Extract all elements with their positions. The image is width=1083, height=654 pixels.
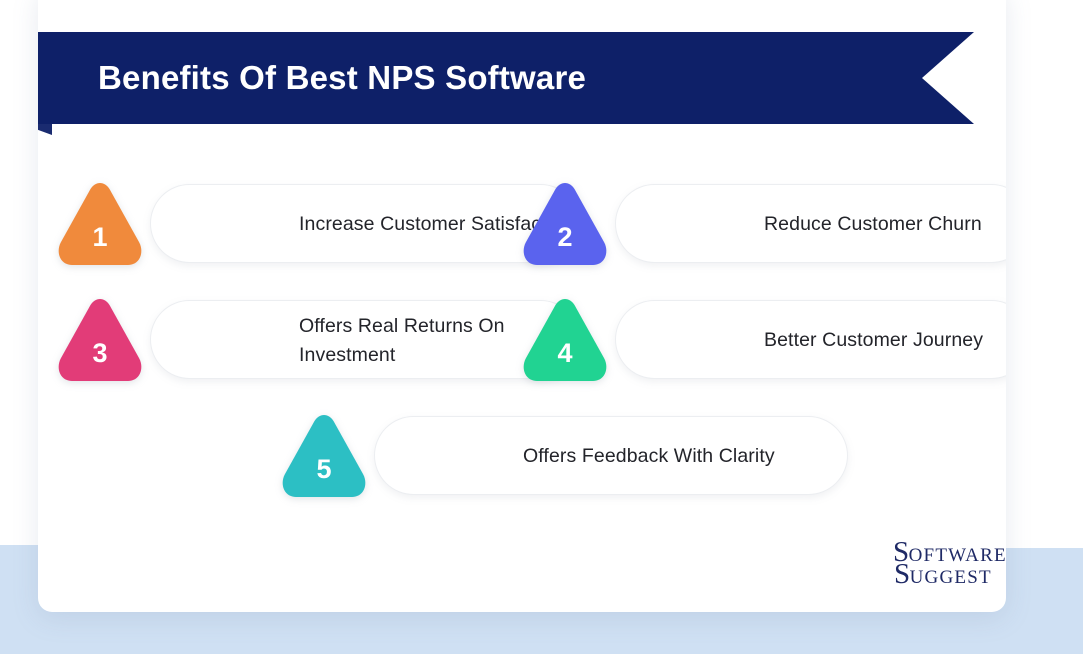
benefits-row: Offers Real Returns On Investment 3 Bett… <box>38 300 1006 416</box>
benefits-row: Increase Customer Satisfaction 1 Reduce … <box>38 184 1006 300</box>
logo-line-two: SUGGEST <box>894 560 1006 589</box>
background-band-bottom <box>175 606 815 654</box>
benefit-card-2[interactable]: Reduce Customer Churn <box>615 184 1006 263</box>
benefit-card-5[interactable]: Offers Feedback With Clarity <box>374 416 848 495</box>
benefit-badge-5: 5 <box>280 414 368 498</box>
triangle-icon <box>521 182 609 266</box>
triangle-icon <box>280 414 368 498</box>
triangle-icon <box>521 298 609 382</box>
benefit-label-2: Reduce Customer Churn <box>764 185 982 264</box>
content-card: Benefits Of Best NPS Software Increase C… <box>38 0 1006 612</box>
benefit-card-1[interactable]: Increase Customer Satisfaction <box>150 184 580 263</box>
softwaresuggest-logo: SOFTWARE® SUGGEST <box>893 538 1006 586</box>
benefit-badge-3: 3 <box>56 298 144 382</box>
benefits-row: Offers Feedback With Clarity 5 <box>38 416 1006 532</box>
benefit-badge-4: 4 <box>521 298 609 382</box>
benefits-list: Increase Customer Satisfaction 1 Reduce … <box>38 184 1006 532</box>
ribbon-chevron-notch <box>922 32 974 124</box>
benefit-label-5: Offers Feedback With Clarity <box>523 417 775 496</box>
logo-s-glyph-2: S <box>894 558 910 590</box>
benefit-badge-2: 2 <box>521 182 609 266</box>
infographic-canvas: Benefits Of Best NPS Software Increase C… <box>0 0 1083 654</box>
title-ribbon: Benefits Of Best NPS Software <box>38 32 974 138</box>
logo-uggest: UGGEST <box>910 567 992 588</box>
triangle-icon <box>56 298 144 382</box>
benefit-badge-1: 1 <box>56 182 144 266</box>
triangle-icon <box>56 182 144 266</box>
benefit-label-4: Better Customer Journey <box>764 301 983 380</box>
page-title: Benefits Of Best NPS Software <box>98 32 586 124</box>
benefit-card-3[interactable]: Offers Real Returns On Investment <box>150 300 580 379</box>
benefit-card-4[interactable]: Better Customer Journey <box>615 300 1006 379</box>
